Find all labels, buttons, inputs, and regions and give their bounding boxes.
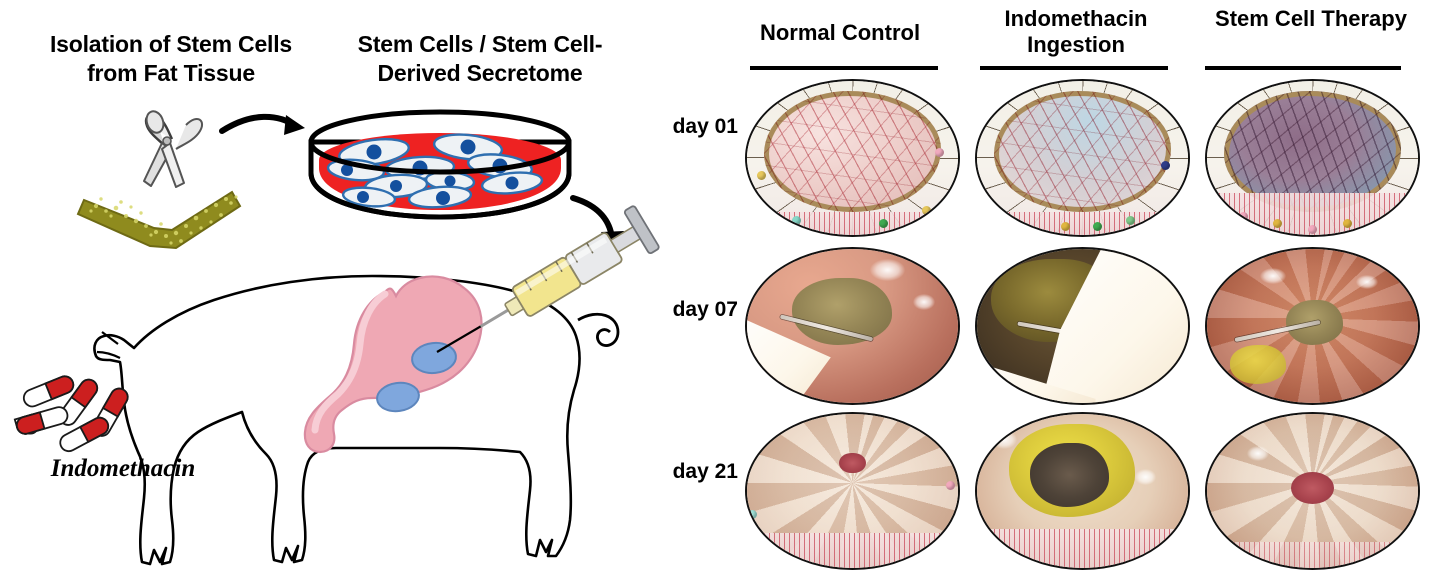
measuring-ruler — [745, 533, 960, 568]
pig-tail-icon — [578, 314, 618, 345]
experimental-workflow-panel: Isolation of Stem Cells from Fat Tissue … — [0, 0, 720, 588]
specimen-image — [745, 79, 960, 237]
measuring-ruler — [975, 212, 1190, 234]
photo-oval-frame — [1205, 79, 1420, 237]
photo-day07-indomethacin-ingestion — [975, 247, 1190, 405]
pill-capsule-icon — [15, 374, 131, 454]
column-header-stem-cell-therapy: Stem Cell Therapy — [1206, 6, 1416, 32]
row-label-day-01: day 01 — [652, 115, 738, 139]
photo-oval-frame — [975, 247, 1190, 405]
endoscopy-image — [975, 247, 1190, 405]
scissors-icon — [144, 109, 202, 187]
photo-day21-normal-control — [745, 412, 960, 570]
marker-pin — [1061, 222, 1070, 231]
marker-pin — [922, 206, 931, 215]
marker-pin — [1126, 216, 1135, 225]
workflow-illustration — [0, 0, 720, 588]
specular-highlight — [1247, 446, 1269, 460]
endoscopy-image — [745, 247, 960, 405]
column-rule-normal-control — [750, 66, 938, 70]
marker-pin — [757, 171, 766, 180]
photo-day07-stem-cell-therapy — [1205, 247, 1420, 405]
measuring-ruler — [745, 212, 960, 234]
photo-day21-stem-cell-therapy — [1205, 412, 1420, 570]
row-label-day-21: day 21 — [652, 460, 738, 484]
photo-day07-normal-control — [745, 247, 960, 405]
central-scar — [839, 453, 865, 474]
necrotic-ulcer-center — [1030, 443, 1108, 507]
column-rule-stem-cell-therapy — [1205, 66, 1401, 70]
specular-highlight — [870, 259, 905, 281]
endoscopy-image — [1205, 247, 1420, 405]
photo-oval-frame — [745, 247, 960, 405]
photo-oval-frame — [975, 79, 1190, 237]
marker-pin — [792, 216, 801, 225]
fat-tissue-icon — [78, 192, 240, 248]
photo-day01-normal-control — [745, 79, 960, 237]
photo-oval-frame — [745, 412, 960, 570]
row-label-day-07: day 07 — [652, 298, 738, 322]
photo-oval-frame — [975, 412, 1190, 570]
drug-label-indomethacin: Indomethacin — [18, 455, 228, 483]
specular-highlight — [1356, 275, 1378, 289]
photo-oval-frame — [1205, 247, 1420, 405]
specimen-image — [1205, 79, 1420, 237]
marker-pin — [879, 219, 888, 228]
endoscopy-image — [745, 412, 960, 570]
endoscopy-image — [1205, 412, 1420, 570]
specimen-image — [975, 79, 1190, 237]
measuring-ruler — [975, 529, 1190, 567]
arrow-right-icon — [222, 115, 305, 135]
endoscopy-image — [975, 412, 1190, 570]
photo-day21-indomethacin-ingestion — [975, 412, 1190, 570]
scientific-figure: Isolation of Stem Cells from Fat Tissue … — [0, 0, 1440, 588]
column-header-indomethacin-ingestion: Indomethacin Ingestion — [966, 6, 1186, 58]
petri-dish-icon — [311, 112, 569, 217]
photo-oval-frame — [1205, 412, 1420, 570]
column-rule-indomethacin-ingestion — [980, 66, 1168, 70]
marker-pin — [1343, 219, 1352, 228]
photo-oval-frame — [745, 79, 960, 237]
specular-highlight — [991, 430, 1017, 449]
photo-day01-stem-cell-therapy — [1205, 79, 1420, 237]
healed-central-scar — [1291, 472, 1334, 504]
photo-day01-indomethacin-ingestion — [975, 79, 1190, 237]
exudate-patch — [1230, 345, 1286, 383]
outcomes-photo-grid-panel: Normal Control Indomethacin Ingestion St… — [720, 0, 1440, 588]
ulcer-lesion — [792, 278, 892, 345]
column-header-normal-control: Normal Control — [730, 20, 950, 46]
specular-highlight — [1135, 469, 1157, 485]
measuring-ruler — [1205, 542, 1420, 568]
specular-highlight — [913, 294, 935, 310]
marker-pin — [1161, 161, 1170, 170]
